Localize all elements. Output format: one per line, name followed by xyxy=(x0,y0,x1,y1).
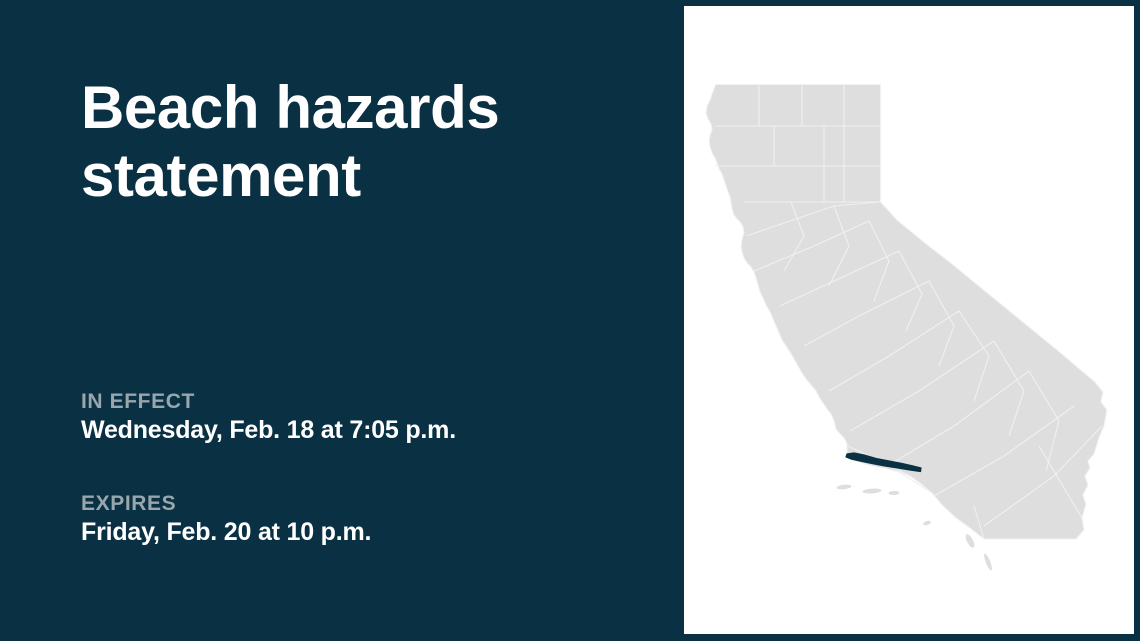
california-state-shape xyxy=(706,85,1107,540)
map-panel xyxy=(684,6,1134,634)
in-effect-block: IN EFFECT Wednesday, Feb. 18 at 7:05 p.m… xyxy=(81,390,641,445)
expires-label: EXPIRES xyxy=(81,492,641,516)
weather-alert-card: Beach hazards statement IN EFFECT Wednes… xyxy=(0,0,1140,641)
in-effect-label: IN EFFECT xyxy=(81,390,641,414)
alert-info-panel: Beach hazards statement IN EFFECT Wednes… xyxy=(0,0,684,641)
in-effect-value: Wednesday, Feb. 18 at 7:05 p.m. xyxy=(81,416,641,445)
alert-title: Beach hazards statement xyxy=(81,74,641,210)
california-state-map-icon xyxy=(684,6,1134,634)
expires-block: EXPIRES Friday, Feb. 20 at 10 p.m. xyxy=(81,492,641,547)
expires-value: Friday, Feb. 20 at 10 p.m. xyxy=(81,518,641,547)
